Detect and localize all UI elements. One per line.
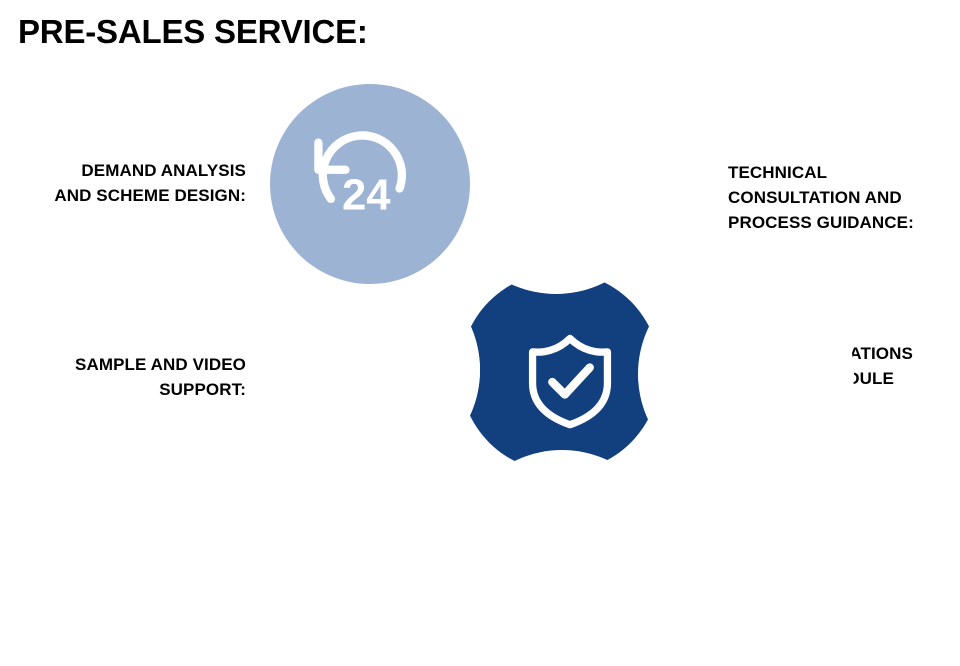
circle-cluster: 24 [270, 84, 666, 474]
document-eye-icon [516, 126, 620, 230]
segment-sample-video[interactable] [272, 270, 472, 470]
label-line: DEMAND ANALYSIS [54, 158, 246, 183]
page-title: PRE-SALES SERVICE: [18, 12, 368, 52]
shield-check-icon [518, 328, 622, 432]
label-line: CONSULTATION AND [728, 185, 914, 210]
label-line: TRANSPARENT QUOTATIONS [668, 341, 913, 366]
segment-transparent-quotations[interactable] [460, 272, 660, 472]
pre-sales-service-infographic: PRE-SALES SERVICE: [0, 0, 960, 498]
clock-24-rotate-icon: 24 [308, 124, 412, 228]
crossed-pencils-icon [308, 326, 412, 430]
label-transparent-quotations: TRANSPARENT QUOTATIONS AND DELIVERY SCHE… [668, 341, 913, 416]
label-line: SUPPORT: [75, 377, 246, 402]
label-demand-analysis: DEMAND ANALYSIS AND SCHEME DESIGN: [54, 158, 246, 208]
label-sample-video: SAMPLE AND VIDEO SUPPORT: [75, 352, 246, 402]
label-line: PROCESS GUIDANCE: [728, 210, 914, 235]
segment-demand-analysis[interactable]: 24 [270, 84, 470, 284]
separator-gap-mask [454, 450, 670, 666]
label-line: AND SCHEME DESIGN: [54, 183, 246, 208]
label-line: SAMPLE AND VIDEO [75, 352, 246, 377]
label-line: AND DELIVERY SCHEDULE [668, 366, 913, 391]
icon-24-text: 24 [342, 170, 391, 219]
label-line: TECHNICAL [728, 160, 914, 185]
label-technical-consultation: TECHNICAL CONSULTATION AND PROCESS GUIDA… [728, 160, 914, 235]
label-line: COMMITMENTS: [668, 391, 913, 416]
segment-technical-consultation[interactable] [456, 86, 656, 286]
